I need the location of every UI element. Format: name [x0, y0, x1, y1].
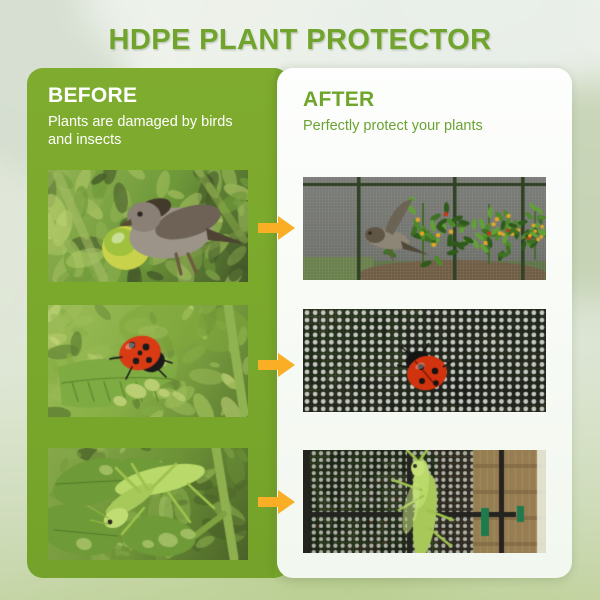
before-to-after-arrow-3 [258, 489, 296, 515]
after-subtitle: Perfectly protect your plants [303, 117, 553, 135]
before-subtitle: Plants are damaged by birds and insects [48, 113, 253, 149]
before-to-after-arrow-2 [258, 352, 296, 378]
before-photo-2 [48, 305, 248, 417]
after-photo-2 [303, 309, 546, 412]
before-heading: BEFORE [48, 84, 137, 108]
after-photo-1 [303, 177, 546, 280]
before-photo-3 [48, 448, 248, 560]
before-to-after-arrow-1 [258, 215, 296, 241]
infographic-stage: HDPE PLANT PROTECTOR BEFORE Plants are d… [0, 0, 600, 600]
after-heading: AFTER [303, 88, 375, 112]
after-photo-3 [303, 450, 546, 553]
page-title: HDPE PLANT PROTECTOR [0, 24, 600, 57]
before-photo-1 [48, 170, 248, 282]
